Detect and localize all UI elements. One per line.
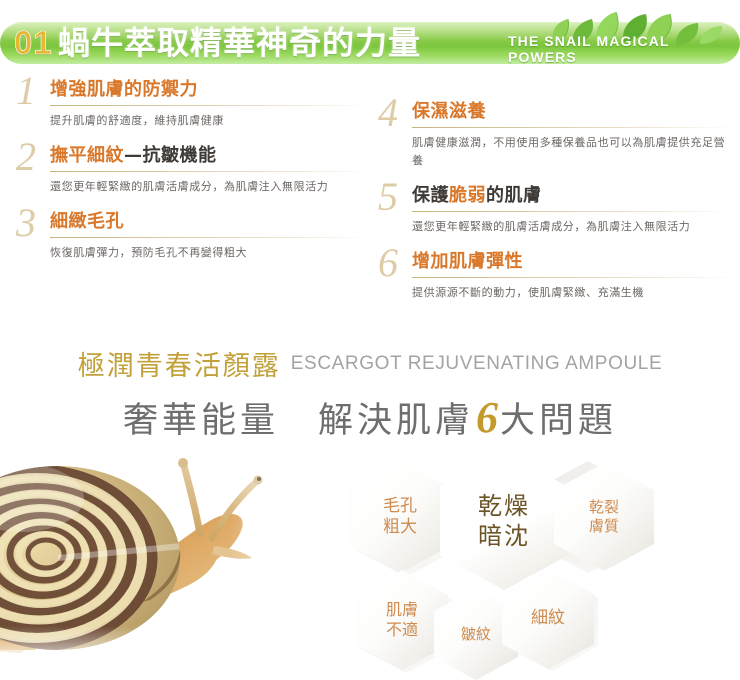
section-title-english: THE SNAIL MAGICAL POWERS [508, 33, 740, 65]
hexagon-dryness[interactable]: 乾燥 暗沈 [440, 452, 568, 590]
feature-description: 還您更年輕緊緻的肌膚活膚成分，為肌膚注入無限活力 [412, 218, 735, 236]
feature-heading-plain: 的肌膚 [486, 185, 542, 206]
feature-description: 提升肌膚的舒適度，維持肌膚健康 [50, 112, 373, 130]
feature-description: 提供源源不斷的動力，使肌膚緊緻、充滿生機 [412, 284, 735, 302]
hexagon-label-line1: 細紋 [531, 608, 565, 629]
feature-heading-highlight: 細緻毛孔 [50, 211, 124, 232]
feature-heading-highlight: 增加肌膚彈性 [412, 251, 523, 272]
feature-number: 2 [16, 137, 36, 177]
feature-number: 6 [378, 243, 398, 283]
product-title-row: 極潤青春活顏露ESCARGOT REJUVENATING AMPOULE [0, 344, 740, 383]
product-tagline: 奢華能量 解決肌膚6大問題 [0, 392, 740, 443]
feature-heading-plain-before: 保護 [412, 185, 449, 206]
feature-heading-plain: —抗皺機能 [124, 145, 217, 166]
hexagon-label-line2: 暗沈 [478, 521, 530, 551]
feature-divider [50, 237, 373, 238]
product-name-chinese: 極潤青春活顏露 [78, 351, 281, 382]
hexagon-label-line2: 粗大 [383, 517, 417, 538]
feature-description: 還您更年輕緊緻的肌膚活膚成分，為肌膚注入無限活力 [50, 178, 373, 196]
feature-divider [50, 171, 373, 172]
feature-number: 1 [16, 71, 36, 111]
feature-heading-highlight: 增強肌膚的防禦力 [50, 79, 198, 100]
hexagon-label-line1: 毛孔 [383, 496, 417, 517]
feature-list-left: 1 增強肌膚的防禦力 提升肌膚的舒適度，維持肌膚健康 2 撫平細紋—抗皺機能 還… [18, 78, 373, 276]
tagline-number: 6 [474, 393, 500, 442]
hexagon-label-line1: 肌膚 [386, 600, 418, 620]
hexagon-label-line1: 乾裂 [589, 498, 619, 517]
feature-number: 4 [378, 93, 398, 133]
section-title-chinese: 蝸牛萃取精華神奇的力量 [58, 20, 421, 66]
feature-number: 3 [16, 203, 36, 243]
product-name-english: ESCARGOT REJUVENATING AMPOULE [291, 353, 662, 374]
feature-list-right: 4 保濕滋養 肌膚健康滋潤，不用使用多種保養品也可以為肌膚提供充足營養 5 保護… [380, 100, 735, 316]
hexagon-label-line2: 膚質 [589, 517, 619, 536]
hexagon-label-line1: 皺紋 [461, 625, 491, 644]
feature-item: 6 增加肌膚彈性 提供源源不斷的動力，使肌膚緊緻、充滿生機 [380, 250, 735, 302]
skin-problem-hexagons: 毛孔 粗大 乾燥 暗沈 乾裂 膚質 肌膚 不適 皺紋 細紋 [330, 455, 680, 670]
feature-heading-highlight: 脆弱 [449, 185, 486, 206]
feature-heading: 增加肌膚彈性 [412, 250, 735, 274]
feature-item: 5 保護脆弱的肌膚 還您更年輕緊緻的肌膚活膚成分，為肌膚注入無限活力 [380, 184, 735, 236]
feature-item: 1 增強肌膚的防禦力 提升肌膚的舒適度，維持肌膚健康 [18, 78, 373, 130]
feature-number: 5 [378, 177, 398, 217]
header-banner: 01 蝸牛萃取精華神奇的力量 THE SNAIL MAGICAL POWERS [0, 22, 740, 64]
snail-photo [0, 450, 330, 670]
feature-description: 肌膚健康滋潤，不用使用多種保養品也可以為肌膚提供充足營養 [412, 134, 735, 170]
feature-divider [412, 277, 735, 278]
section-number: 01 [14, 22, 53, 64]
hexagon-label-line2: 不適 [386, 620, 418, 640]
feature-divider [50, 105, 373, 106]
snail-illustration-icon [0, 450, 330, 670]
feature-divider [412, 127, 735, 128]
feature-heading-highlight: 撫平細紋 [50, 145, 124, 166]
tagline-text-after: 大問題 [500, 401, 617, 441]
feature-heading: 保濕滋養 [412, 100, 735, 124]
feature-item: 4 保濕滋養 肌膚健康滋潤，不用使用多種保養品也可以為肌膚提供充足營養 [380, 100, 735, 170]
feature-heading: 撫平細紋—抗皺機能 [50, 144, 373, 168]
tagline-text-before: 奢華能量 解決肌膚 [123, 401, 474, 441]
feature-heading: 細緻毛孔 [50, 210, 373, 234]
feature-heading-highlight: 保濕滋養 [412, 101, 486, 122]
feature-item: 2 撫平細紋—抗皺機能 還您更年輕緊緻的肌膚活膚成分，為肌膚注入無限活力 [18, 144, 373, 196]
feature-heading: 保護脆弱的肌膚 [412, 184, 735, 208]
feature-heading: 增強肌膚的防禦力 [50, 78, 373, 102]
feature-divider [412, 211, 735, 212]
feature-item: 3 細緻毛孔 恢復肌膚彈力，預防毛孔不再變得粗大 [18, 210, 373, 262]
hexagon-label-line1: 乾燥 [478, 491, 530, 521]
feature-description: 恢復肌膚彈力，預防毛孔不再變得粗大 [50, 244, 373, 262]
